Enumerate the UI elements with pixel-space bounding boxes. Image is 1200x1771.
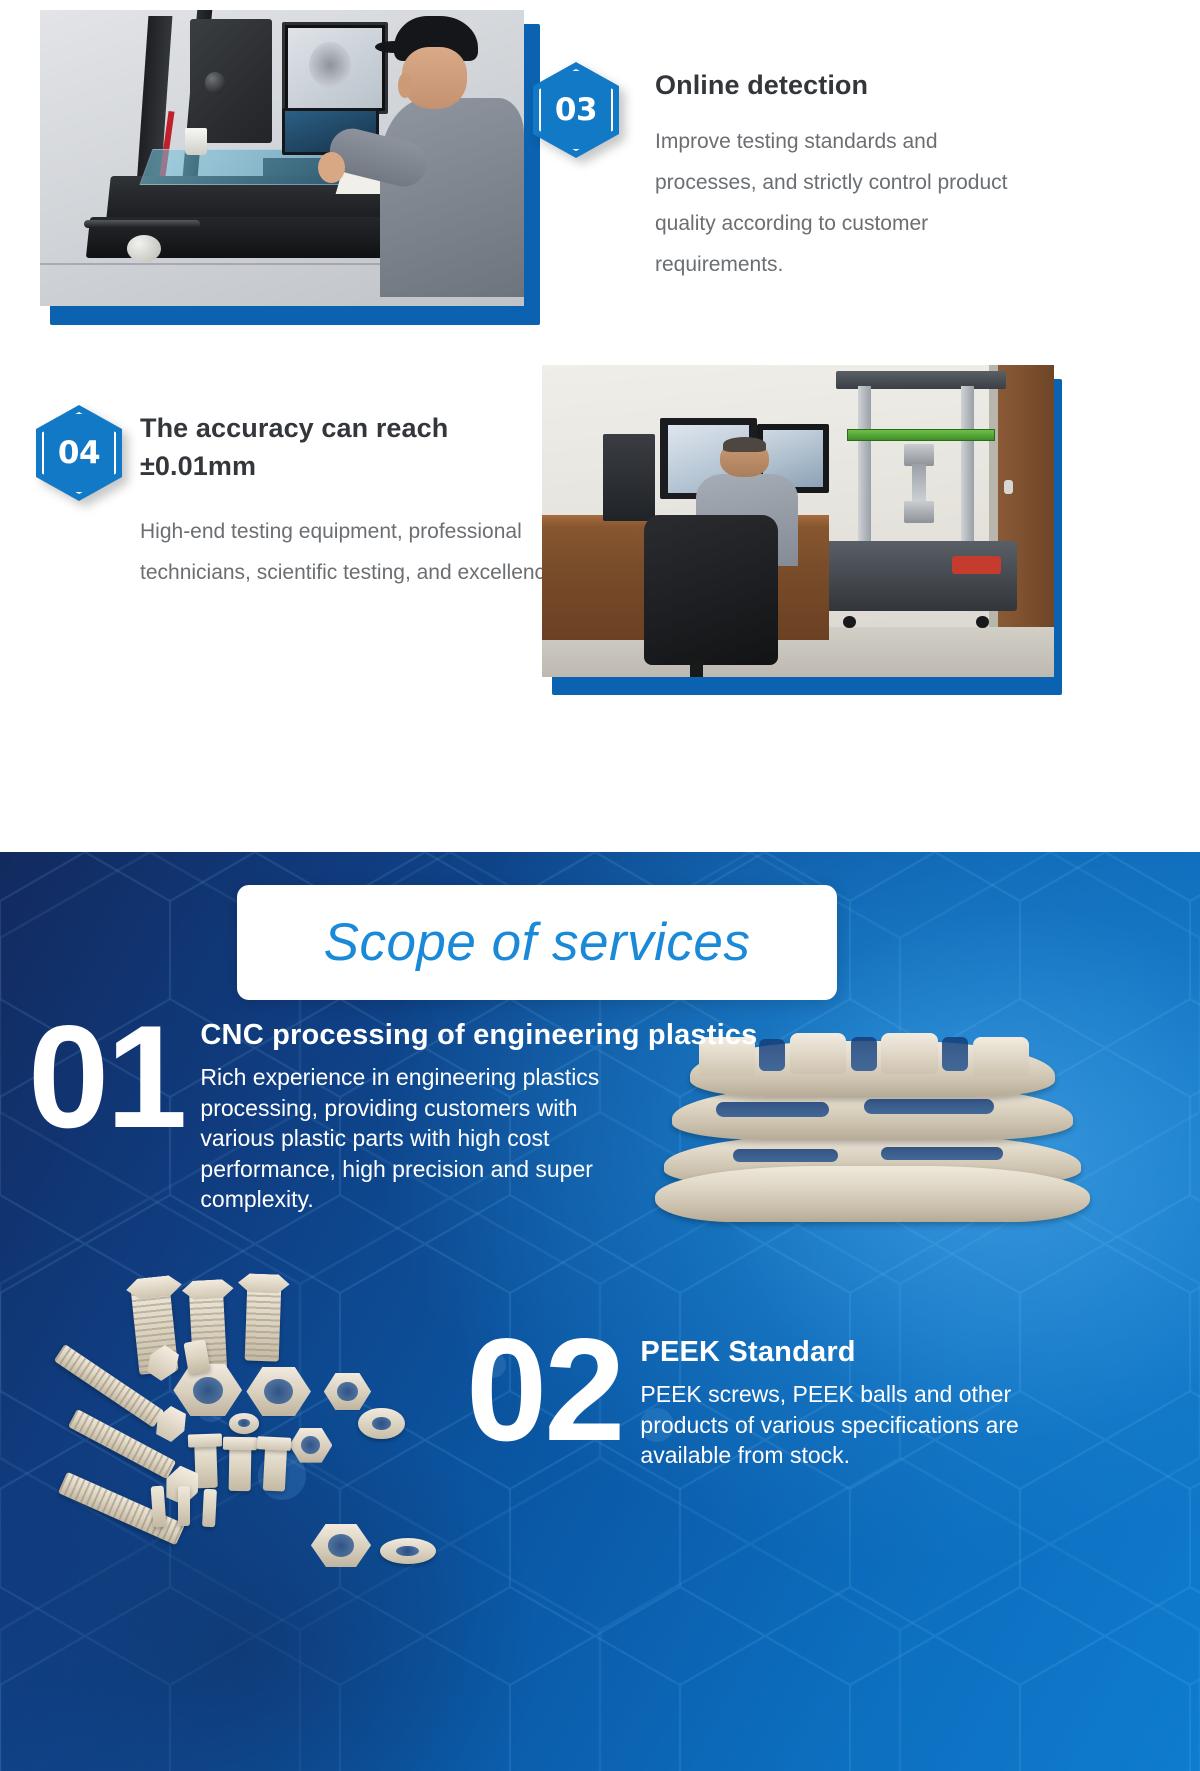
- service-text: CNC processing of engineering plastics R…: [200, 1007, 640, 1215]
- peek-curved-part-photo: [655, 1037, 1090, 1252]
- feature-text: Online detection Improve testing standar…: [637, 62, 1157, 286]
- tensile-testing-photo: [542, 365, 1062, 695]
- feature-title: Online detection: [655, 66, 1157, 104]
- service-number: 01: [28, 1007, 184, 1147]
- feature-number: 03: [533, 62, 619, 158]
- online-detection-photo: [40, 10, 540, 325]
- service-title: PEEK Standard: [640, 1336, 1060, 1369]
- service-text: PEEK Standard PEEK screws, PEEK balls an…: [640, 1320, 1060, 1471]
- page-title: Scope of services: [324, 912, 751, 973]
- promo-page: 03 Online detection Improve testing stan…: [0, 0, 1200, 1771]
- service-body: PEEK screws, PEEK balls and other produc…: [640, 1379, 1040, 1471]
- feature-text: The accuracy can reach ±0.01mm High-end …: [140, 405, 520, 594]
- feature-title: The accuracy can reach ±0.01mm: [140, 409, 520, 486]
- peek-screws-photo: [40, 1277, 470, 1567]
- peek-part-illustration: [655, 1037, 1090, 1252]
- service-cnc-processing: 01 CNC processing of engineering plastic…: [28, 1007, 640, 1215]
- feature-online-detection: 03 Online detection Improve testing stan…: [533, 62, 1169, 286]
- hexagon-badge-04: 04: [36, 405, 122, 501]
- feature-body: High-end testing equipment, professional…: [140, 512, 570, 594]
- service-title: CNC processing of engineering plastics: [200, 1019, 640, 1052]
- testing-capabilities-section: 03 Online detection Improve testing stan…: [0, 0, 1200, 852]
- service-peek-standard: 02 PEEK Standard PEEK screws, PEEK balls…: [466, 1320, 1060, 1471]
- feature-body: Improve testing standards and processes,…: [655, 122, 1035, 286]
- service-number: 02: [466, 1320, 622, 1460]
- tensile-testing-scene: [542, 365, 1054, 677]
- scope-title-card: Scope of services: [237, 885, 837, 1000]
- hexagon-badge-03: 03: [533, 62, 619, 158]
- vision-measuring-machine-scene: [40, 10, 524, 306]
- feature-accuracy: 04 The accuracy can reach ±0.01mm High-e…: [36, 405, 536, 594]
- photo-image: [40, 10, 524, 306]
- service-body: Rich experience in engineering plastics …: [200, 1062, 615, 1215]
- photo-image: [542, 365, 1054, 677]
- feature-number: 04: [36, 405, 122, 501]
- peek-fasteners-illustration: [40, 1277, 470, 1567]
- scope-of-services-section: Scope of services: [0, 852, 1200, 1771]
